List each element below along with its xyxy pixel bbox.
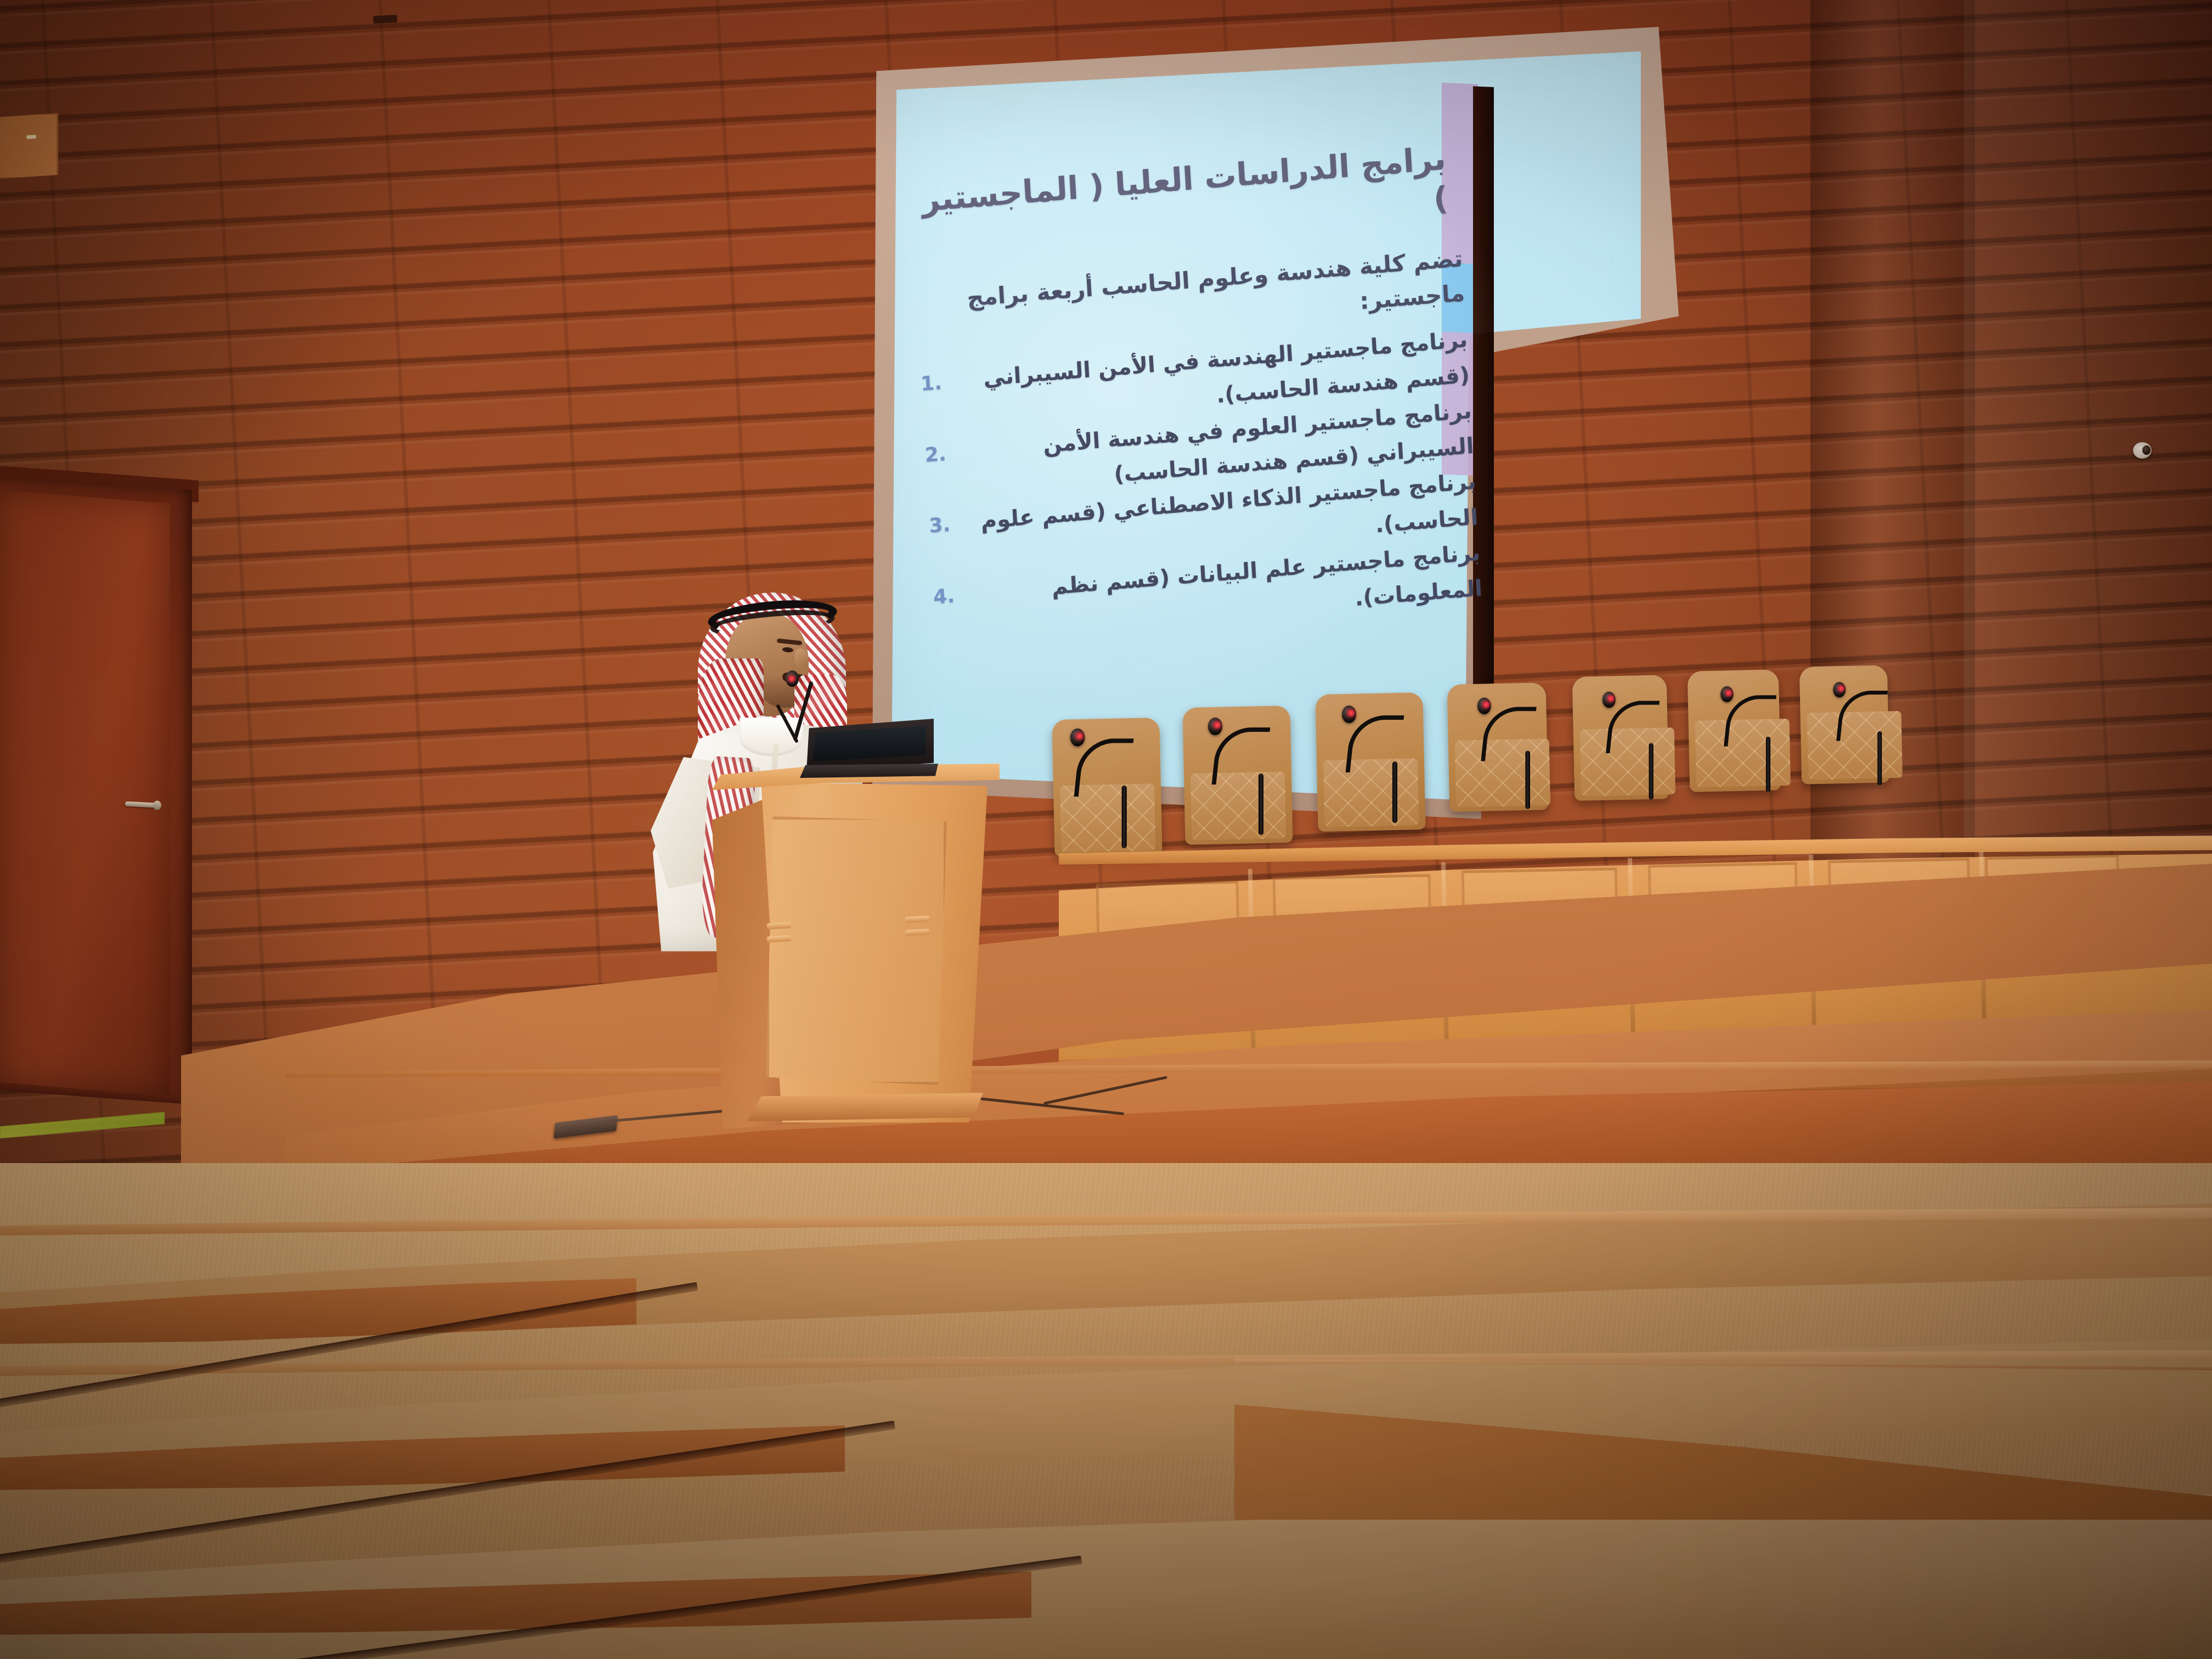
table-microphone[interactable] [1600, 693, 1666, 799]
table-microphone[interactable] [1831, 684, 1894, 786]
auditorium-scene: برامج الدراسات العليا ( الماجستير ) تضم … [0, 0, 2212, 1659]
laptop-base [800, 764, 938, 778]
list-item-number: 4. [933, 580, 958, 614]
slide-content: برامج الدراسات العليا ( الماجستير ) تضم … [909, 138, 1483, 650]
table-microphone[interactable] [1719, 689, 1783, 792]
table-microphone[interactable] [1206, 720, 1277, 835]
list-item-number: 3. [928, 509, 954, 543]
lectern-trim [905, 916, 930, 923]
lectern-front-inset [766, 816, 947, 1085]
lectern [724, 764, 998, 1137]
lectern-base [747, 1093, 983, 1121]
slide-program-list: 1. برنامج ماجستير الهندسة في الأمن السيب… [919, 322, 1483, 650]
ceiling-speaker-icon [373, 15, 398, 24]
wall-mounted-camera-icon [2133, 442, 2152, 459]
side-door[interactable] [0, 489, 170, 1096]
lectern-side-access-panel[interactable] [0, 113, 58, 179]
list-item-number: 2. [924, 438, 950, 472]
lectern-latch-icon[interactable] [26, 135, 36, 139]
podium-microphone-led [788, 675, 795, 682]
table-microphone[interactable] [1068, 731, 1141, 848]
lectern-trim [767, 922, 792, 929]
wall-pilaster-right [1964, 0, 2212, 845]
table-microphone[interactable] [1475, 699, 1543, 809]
table-microphone[interactable] [1340, 708, 1411, 823]
presenter-nose [794, 648, 809, 667]
list-item-number: 1. [920, 367, 946, 401]
lectern-trim [905, 929, 930, 936]
lectern-trim [767, 935, 792, 943]
